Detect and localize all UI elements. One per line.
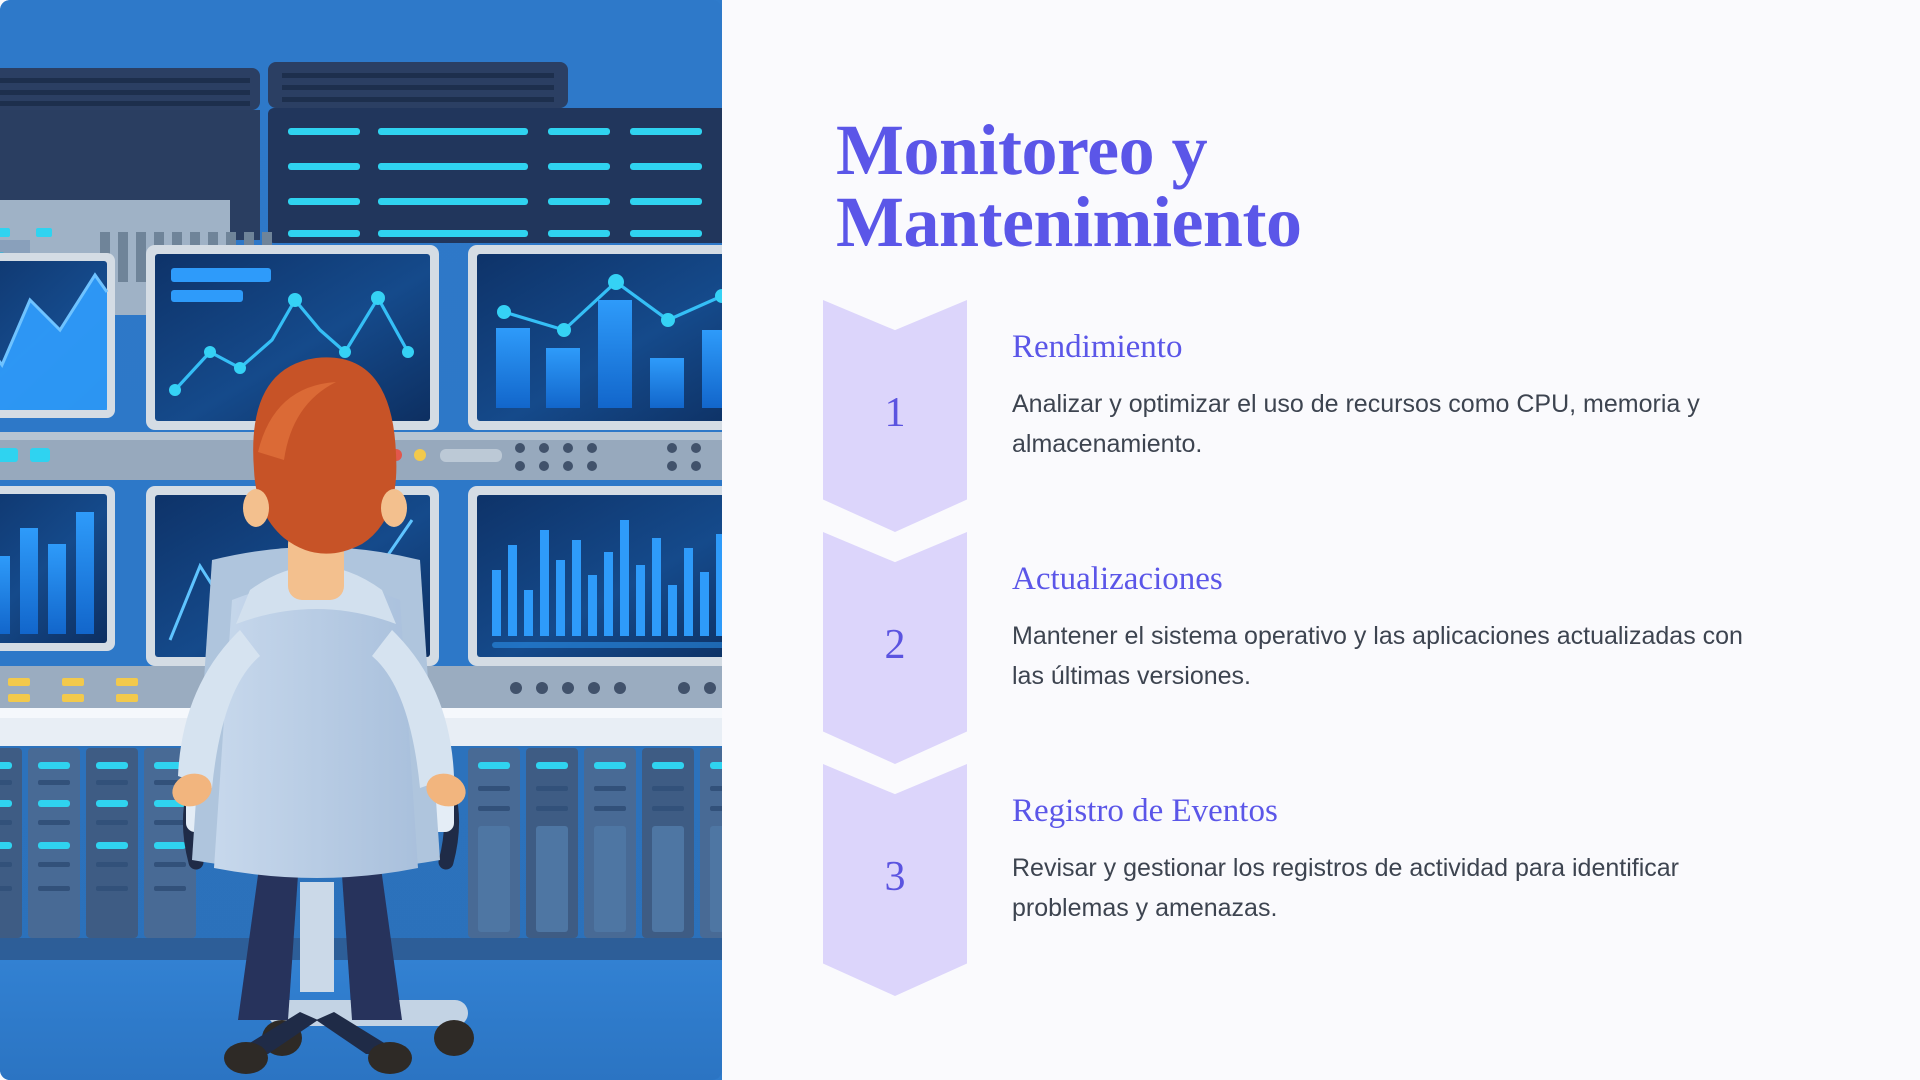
step-description-1: Analizar y optimizar el uso de recursos … bbox=[1012, 384, 1752, 465]
illustration-panel bbox=[0, 0, 722, 1080]
step-number-2: 2 bbox=[885, 624, 906, 672]
slide-root: Monitoreo y Mantenimiento 1 Rendimiento … bbox=[0, 0, 1920, 1080]
step-description-2: Mantener el sistema operativo y las apli… bbox=[1012, 616, 1752, 697]
step-body-1: Rendimiento Analizar y optimizar el uso … bbox=[1012, 328, 1752, 465]
steps-list: 1 Rendimiento Analizar y optimizar el us… bbox=[722, 300, 1920, 996]
step-title-2: Actualizaciones bbox=[1012, 560, 1752, 600]
step-body-2: Actualizaciones Mantener el sistema oper… bbox=[1012, 560, 1752, 697]
content-panel: Monitoreo y Mantenimiento 1 Rendimiento … bbox=[722, 0, 1920, 1080]
list-item: 1 Rendimiento Analizar y optimizar el us… bbox=[722, 300, 1920, 532]
step-description-3: Revisar y gestionar los registros de act… bbox=[1012, 848, 1752, 929]
step-badge-2: 2 bbox=[823, 532, 967, 764]
page-title: Monitoreo y Mantenimiento bbox=[836, 114, 1596, 258]
step-title-3: Registro de Eventos bbox=[1012, 792, 1752, 832]
step-badge-3: 3 bbox=[823, 764, 967, 996]
list-item: 3 Registro de Eventos Revisar y gestiona… bbox=[722, 764, 1920, 996]
list-item: 2 Actualizaciones Mantener el sistema op… bbox=[722, 532, 1920, 764]
step-badge-1: 1 bbox=[823, 300, 967, 532]
step-body-3: Registro de Eventos Revisar y gestionar … bbox=[1012, 792, 1752, 929]
step-number-1: 1 bbox=[885, 392, 906, 440]
step-title-1: Rendimiento bbox=[1012, 328, 1752, 368]
server-room-illustration bbox=[0, 0, 722, 1080]
step-number-3: 3 bbox=[885, 856, 906, 904]
